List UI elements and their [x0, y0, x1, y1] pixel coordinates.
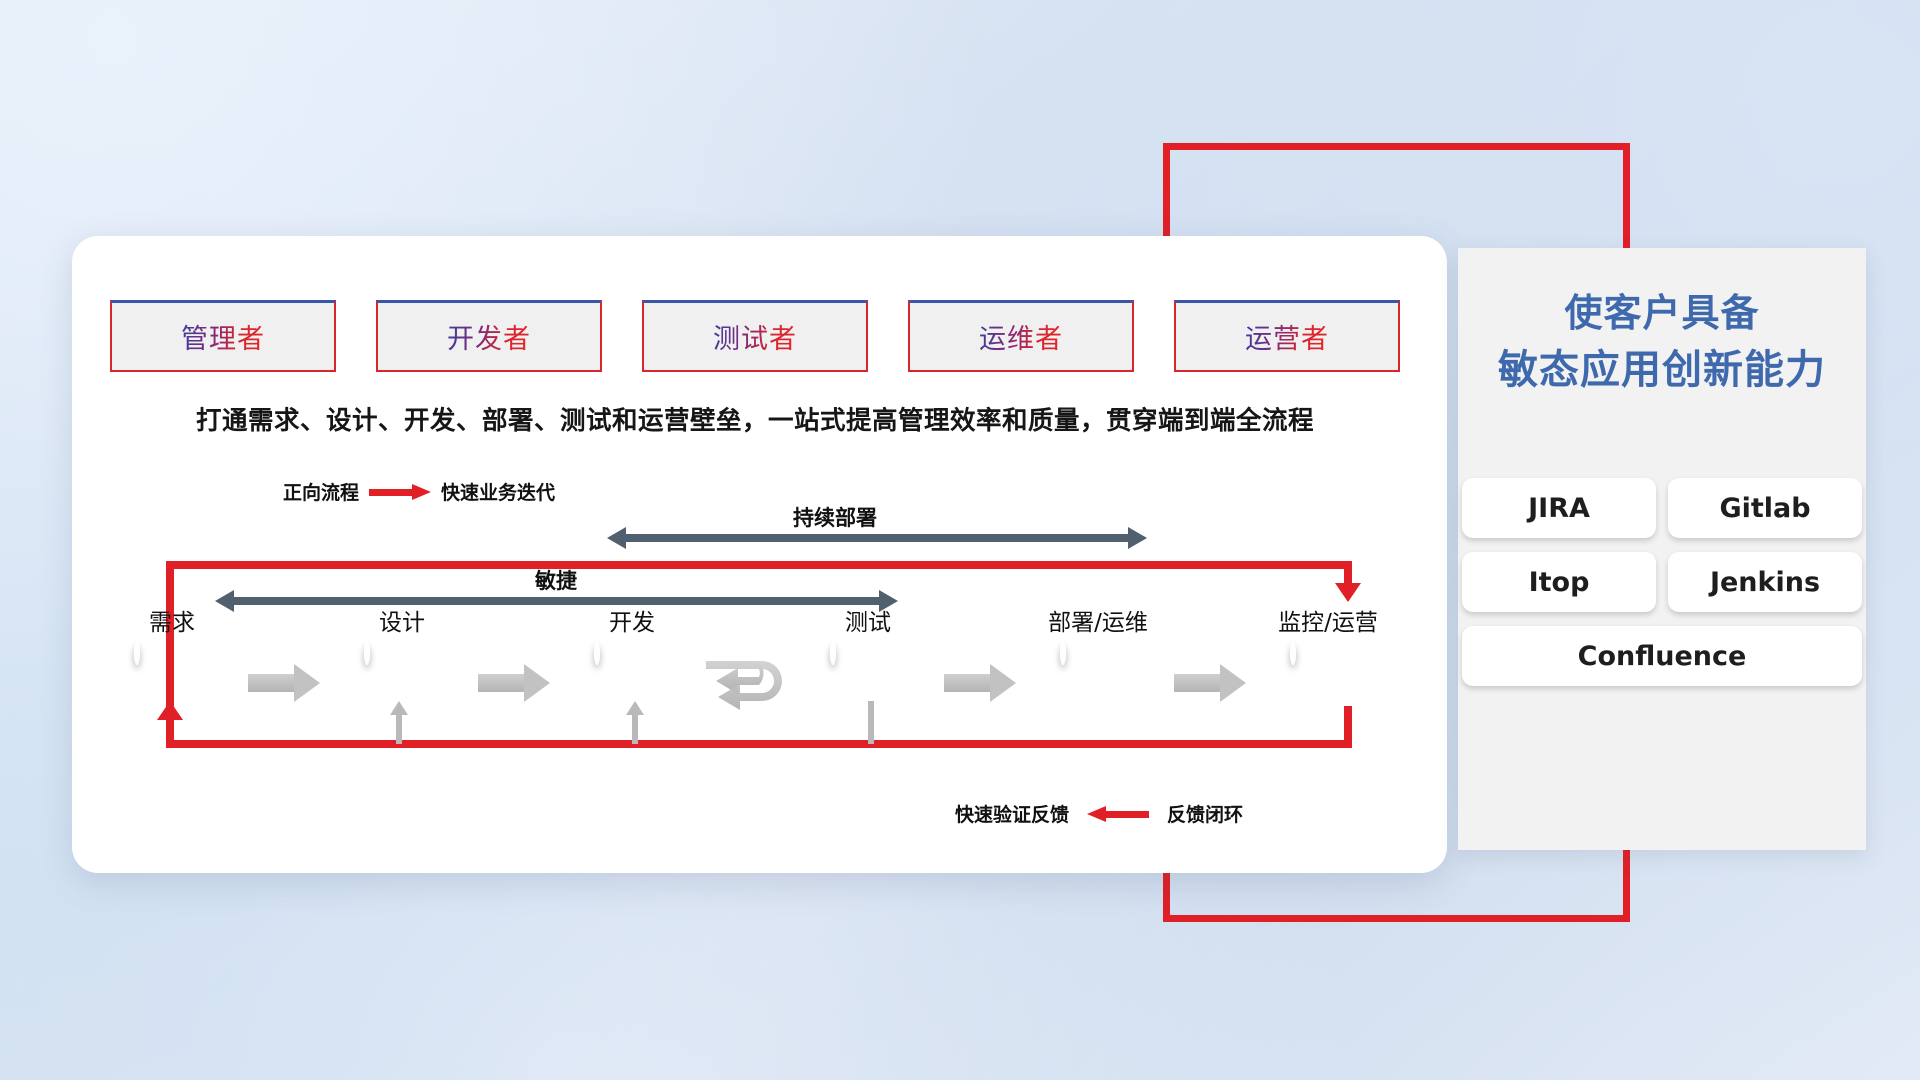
pipeline-node-dot	[134, 642, 140, 665]
tool-tag-confluence[interactable]: Confluence	[1462, 626, 1862, 686]
panel-heading-line-1: 使客户具备	[1458, 286, 1866, 341]
pipeline-node-label: 监控/运营	[1278, 603, 1378, 637]
pipeline-node-0[interactable]: 需求	[134, 645, 210, 721]
tool-tag-itop[interactable]: Itop	[1462, 552, 1656, 612]
pipeline-node-label: 需求	[149, 603, 195, 637]
pipeline-node-3[interactable]: 测试	[830, 645, 906, 721]
pipeline-node-dot	[594, 642, 600, 665]
tool-tag-jira[interactable]: JIRA	[1462, 478, 1656, 538]
pipeline-node-label: 测试	[845, 603, 891, 637]
pipeline-node-2[interactable]: 开发	[594, 645, 670, 721]
arrow-left-red-icon	[1087, 806, 1149, 822]
loop-back-arrow-icon	[704, 655, 790, 711]
pipeline-node-label: 开发	[609, 603, 655, 637]
legend-feedback-right-label: 反馈闭环	[1167, 800, 1243, 827]
panel-heading-line-2: 敏态应用创新能力	[1458, 341, 1866, 399]
pipeline-arrow-4-5	[1174, 664, 1246, 702]
pipeline-arrow-0-1	[248, 664, 320, 702]
pipeline-node-4[interactable]: 部署/运维	[1060, 645, 1136, 721]
pipeline-track: 需求 设计 开发 测试	[110, 615, 1400, 725]
pipeline-node-dot	[830, 642, 836, 665]
ring-top-segment	[166, 561, 1352, 569]
pipeline-node-dot	[364, 642, 370, 665]
ring-bottom-segment	[166, 740, 1352, 748]
pipeline-node-dot	[1060, 642, 1066, 665]
tool-tag-gitlab[interactable]: Gitlab	[1668, 478, 1862, 538]
pipeline-node-dot	[1290, 642, 1296, 665]
pipeline-node-1[interactable]: 设计	[364, 645, 440, 721]
pipeline-node-label: 设计	[379, 603, 425, 637]
pipeline-arrow-3-4	[944, 664, 1016, 702]
legend-feedback-loop: 快速验证反馈 反馈闭环	[955, 800, 1243, 827]
pipeline-node-label: 部署/运维	[1048, 603, 1148, 637]
pipeline-arrow-1-2	[478, 664, 550, 702]
tool-tag-jenkins[interactable]: Jenkins	[1668, 552, 1862, 612]
legend-feedback-left-label: 快速验证反馈	[955, 800, 1069, 827]
diagram-stage: 管理者 开发者 测试者 运维者 运营者 打通需求、设计、开发、部署、测试和运营壁…	[0, 0, 1920, 1080]
ring-arrowhead-down-icon	[1335, 583, 1361, 602]
tool-tag-grid: JIRA Gitlab Itop Jenkins Confluence	[1462, 478, 1862, 686]
panel-heading: 使客户具备 敏态应用创新能力	[1458, 286, 1866, 399]
pipeline-node-5[interactable]: 监控/运营	[1290, 645, 1366, 721]
